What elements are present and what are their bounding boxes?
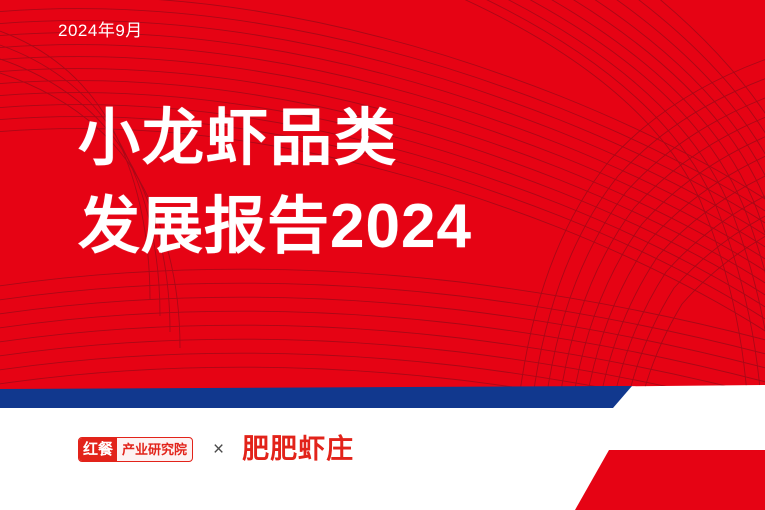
blue-accent-band: [0, 386, 632, 408]
hongcan-logo-name: 产业研究院: [117, 438, 192, 461]
multiply-icon: ×: [213, 440, 224, 459]
hongcan-research-logo[interactable]: 红餐 产业研究院: [78, 437, 193, 462]
date-badge-label: 2024年9月: [58, 16, 143, 41]
page-title: 小龙虾品类 发展报告2024: [78, 95, 698, 271]
footer-logo-row: 红餐 产业研究院 × 肥肥虾庄: [78, 432, 354, 466]
partner-logo-feifeixiazhuang[interactable]: 肥肥虾庄: [242, 436, 354, 463]
title-line-2: 发展报告2024: [78, 183, 698, 271]
hongcan-logo-mark: 红餐: [79, 438, 117, 461]
date-badge: [575, 450, 765, 510]
title-line-1: 小龙虾品类: [78, 95, 698, 183]
report-cover-page: 小龙虾品类 发展报告2024 红餐 产业研究院 × 肥肥虾庄 2024年9月: [0, 0, 765, 510]
